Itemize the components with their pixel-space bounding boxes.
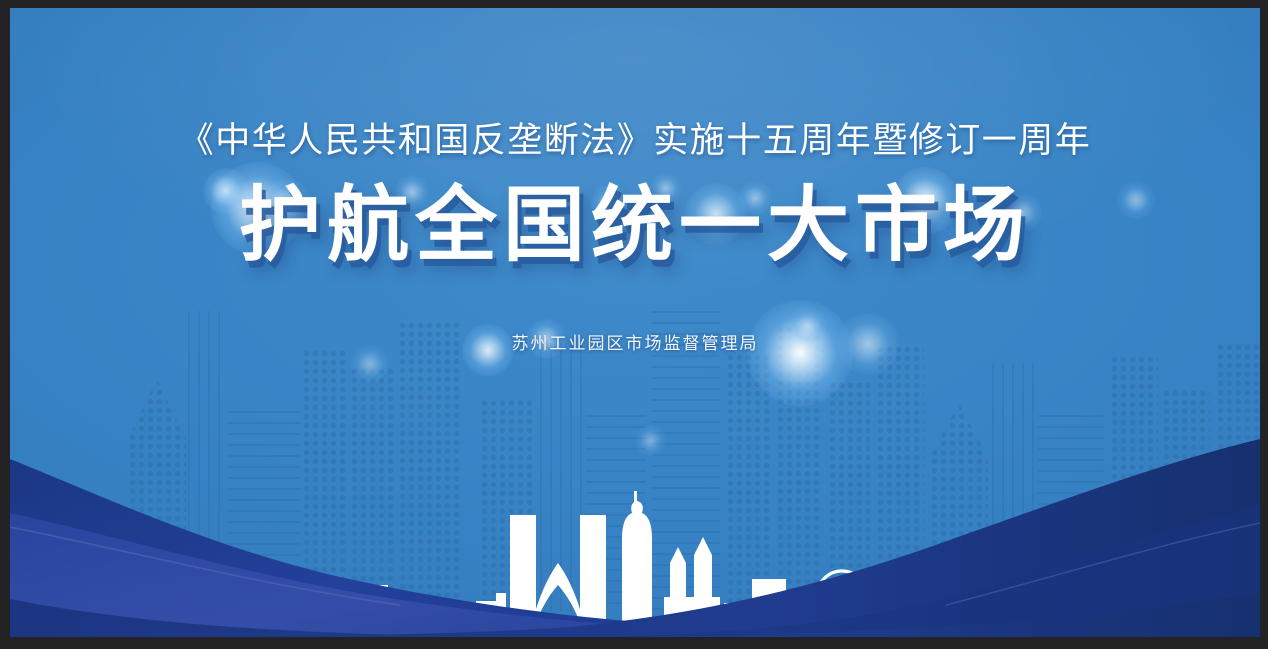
poster-subtitle-anniversary: 《中华人民共和国反垄断法》实施十五周年暨修订一周年 xyxy=(10,120,1260,161)
frame-bottom-strip xyxy=(0,637,1268,649)
poster-main-title: 护航全国统一大市场 xyxy=(10,183,1260,269)
poster-issuing-authority: 苏州工业园区市场监督管理局 xyxy=(10,329,1260,354)
poster-outer-frame: 《中华人民共和国反垄断法》实施十五周年暨修订一周年 护航全国统一大市场 苏州工业… xyxy=(0,0,1268,649)
city-skyline-and-waves xyxy=(10,387,1260,637)
poster-text-block: 《中华人民共和国反垄断法》实施十五周年暨修订一周年 护航全国统一大市场 苏州工业… xyxy=(10,120,1260,354)
poster-canvas: 《中华人民共和国反垄断法》实施十五周年暨修订一周年 护航全国统一大市场 苏州工业… xyxy=(10,8,1260,637)
